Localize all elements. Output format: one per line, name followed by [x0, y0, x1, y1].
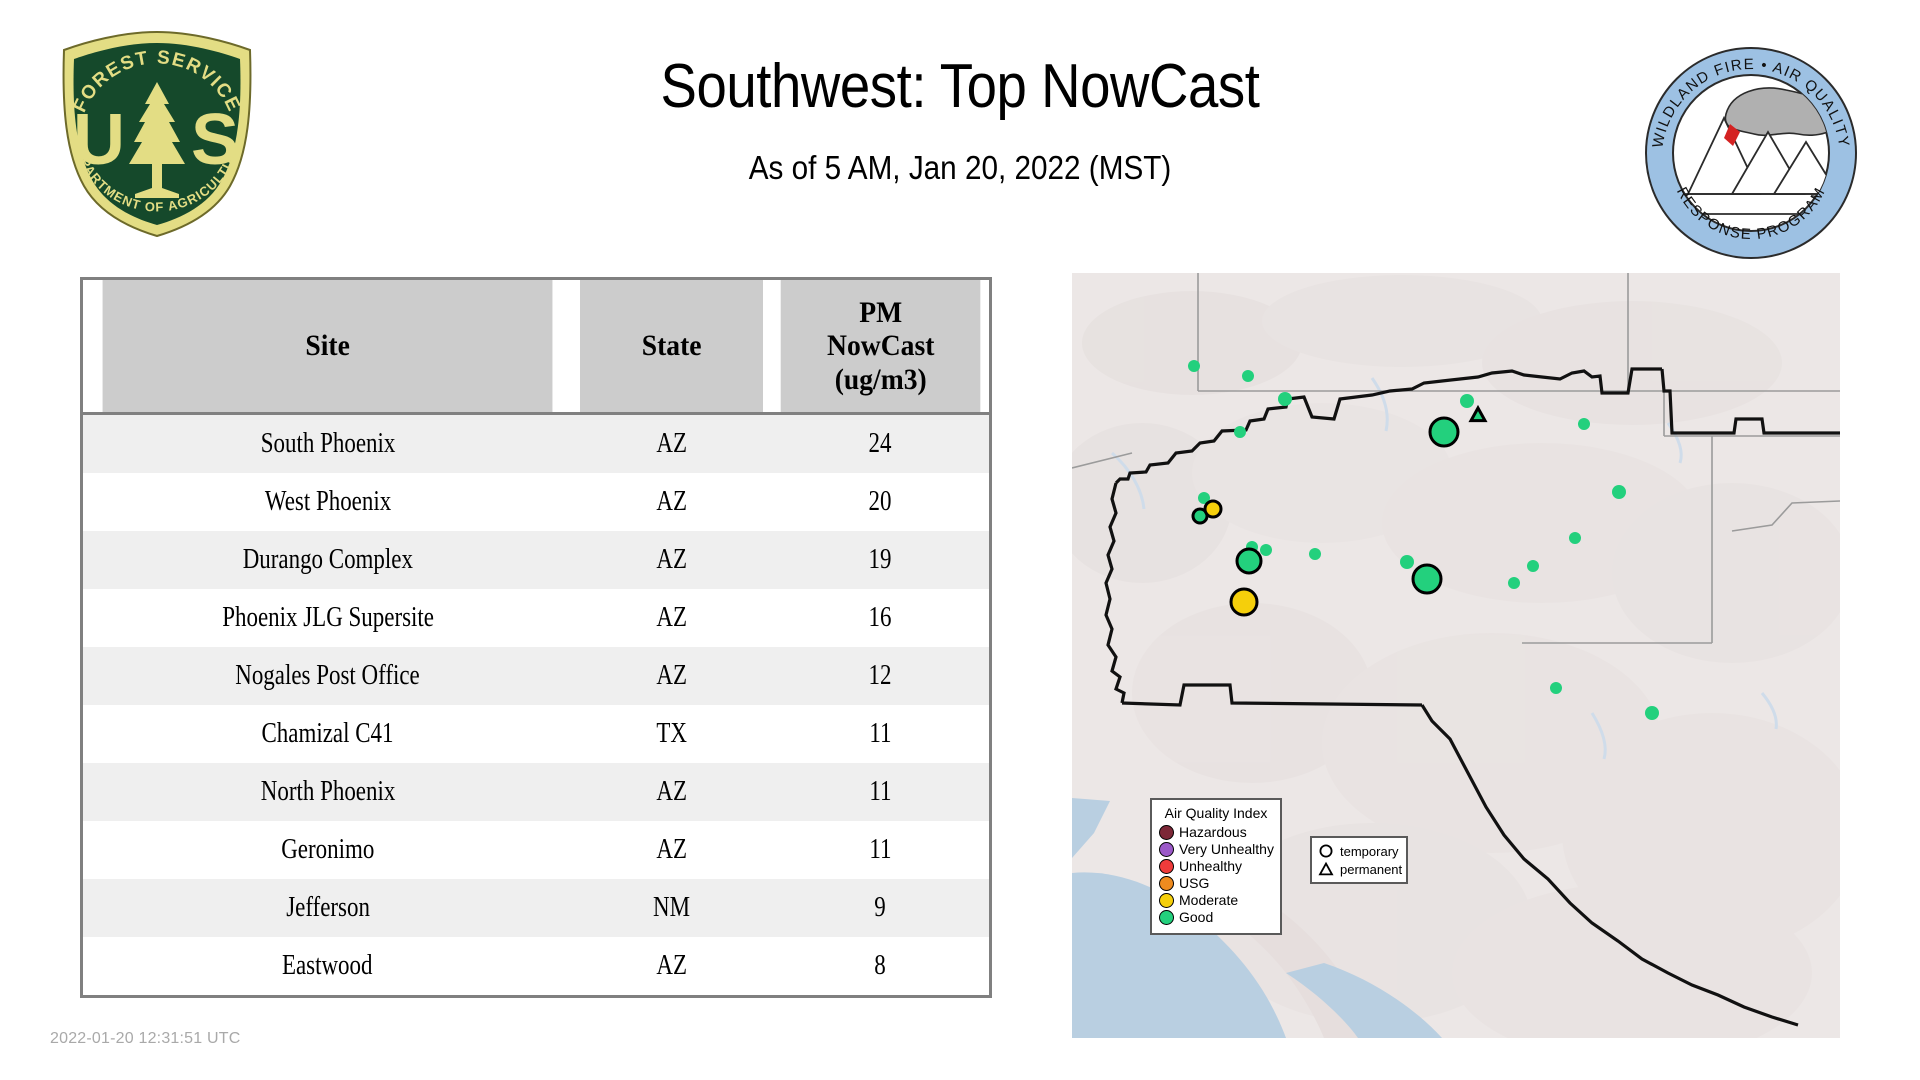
nowcast-table: Site State PM NowCast (ug/m3) South Phoe… [83, 280, 989, 995]
cell-state: AZ [572, 414, 771, 474]
cell-state-text: AZ [657, 544, 688, 576]
cell-value: 9 [772, 879, 989, 937]
map-marker-station[interactable] [1569, 532, 1581, 544]
map-marker-station[interactable] [1612, 485, 1626, 499]
map-marker-station[interactable] [1400, 555, 1414, 569]
cell-site-text: Nogales Post Office [235, 660, 420, 692]
column-header-state-label: State [642, 329, 702, 362]
cell-state: AZ [572, 473, 771, 531]
column-header-state[interactable]: State [580, 280, 763, 414]
aqi-legend-row: Hazardous [1159, 824, 1273, 841]
aqi-legend-row: Very Unhealthy [1159, 841, 1273, 858]
cell-site-text: Phoenix JLG Supersite [222, 602, 434, 634]
aqi-legend-items: HazardousVery UnhealthyUnhealthyUSGModer… [1159, 824, 1273, 926]
cell-site-text: South Phoenix [260, 428, 395, 460]
table-row[interactable]: Nogales Post OfficeAZ12 [83, 647, 989, 705]
map-marker-station[interactable] [1460, 394, 1474, 408]
table-header: Site State PM NowCast (ug/m3) [83, 280, 989, 414]
cell-site-text: Eastwood [282, 950, 373, 982]
cell-site: South Phoenix [83, 414, 572, 474]
table-header-row: Site State PM NowCast (ug/m3) [83, 280, 989, 414]
table-row[interactable]: South PhoenixAZ24 [83, 414, 989, 474]
cell-site: Geronimo [83, 821, 572, 879]
cell-value: 20 [772, 473, 989, 531]
map-marker-station[interactable] [1527, 560, 1539, 572]
cell-value-text: 19 [869, 544, 892, 576]
aqi-legend-row: USG [1159, 875, 1273, 892]
map-marker-station[interactable] [1231, 589, 1257, 615]
table-body: South PhoenixAZ24West PhoenixAZ20Durango… [83, 414, 989, 996]
aqi-legend-label: Good [1179, 909, 1213, 926]
cell-state-text: AZ [657, 428, 688, 460]
aqi-legend-label: Unhealthy [1179, 858, 1242, 875]
cell-state-text: TX [657, 718, 688, 750]
map-marker-station[interactable] [1430, 418, 1458, 446]
aqi-legend-label: Very Unhealthy [1179, 841, 1274, 858]
table-row[interactable]: Durango ComplexAZ19 [83, 531, 989, 589]
cell-value: 16 [772, 589, 989, 647]
aqi-legend-label: Moderate [1179, 892, 1238, 909]
table-row[interactable]: GeronimoAZ11 [83, 821, 989, 879]
station-type-legend: temporary permanent [1310, 836, 1408, 884]
cell-site: Chamizal C41 [83, 705, 572, 763]
map-marker-station[interactable] [1234, 426, 1246, 438]
cell-value-text: 16 [869, 602, 892, 634]
column-header-site-label: Site [305, 329, 349, 362]
table-row[interactable]: Phoenix JLG SupersiteAZ16 [83, 589, 989, 647]
map-marker-station[interactable] [1578, 418, 1590, 430]
legend-row-permanent: permanent [1318, 860, 1400, 878]
cell-site-text: Geronimo [281, 834, 374, 866]
cell-site: Phoenix JLG Supersite [83, 589, 572, 647]
map-marker-station[interactable] [1242, 370, 1254, 382]
cell-value-text: 11 [869, 776, 891, 808]
cell-state: AZ [572, 531, 771, 589]
cell-value: 24 [772, 414, 989, 474]
cell-state: AZ [572, 821, 771, 879]
column-header-pm-nowcast[interactable]: PM NowCast (ug/m3) [780, 280, 980, 414]
map-marker-station[interactable] [1550, 682, 1562, 694]
cell-state-text: AZ [657, 950, 688, 982]
map-marker-station[interactable] [1188, 360, 1200, 372]
map-marker-station[interactable] [1260, 544, 1272, 556]
aqi-swatch-icon [1159, 893, 1174, 908]
cell-site-text: Durango Complex [242, 544, 412, 576]
page-title: Southwest: Top NowCast [379, 52, 1541, 121]
cell-value-text: 12 [869, 660, 892, 692]
cell-state-text: AZ [657, 660, 688, 692]
cell-state: TX [572, 705, 771, 763]
aqi-legend: Air Quality Index HazardousVery Unhealth… [1150, 798, 1282, 935]
map-marker-station[interactable] [1237, 549, 1261, 573]
cell-site-text: Chamizal C41 [262, 718, 394, 750]
cell-value-text: 11 [869, 718, 891, 750]
map-marker-station[interactable] [1205, 501, 1221, 517]
column-header-site[interactable]: Site [103, 280, 553, 414]
cell-state: NM [572, 879, 771, 937]
permanent-triangle-icon [1318, 861, 1334, 877]
aqi-swatch-icon [1159, 825, 1174, 840]
pm-label-line3: (ug/m3) [784, 363, 977, 397]
air-quality-map[interactable]: Air Quality Index HazardousVery Unhealth… [1072, 273, 1840, 1038]
cell-site: Jefferson [83, 879, 572, 937]
aqi-legend-label: USG [1179, 875, 1209, 892]
title-block: Southwest: Top NowCast As of 5 AM, Jan 2… [300, 52, 1620, 187]
map-marker-station[interactable] [1508, 577, 1520, 589]
generated-timestamp: 2022-01-20 12:31:51 UTC [50, 1030, 241, 1048]
usfs-shield-logo: U S FOREST SERVICE DEPARTMENT OF AGRICUL… [52, 28, 262, 240]
table-row[interactable]: JeffersonNM9 [83, 879, 989, 937]
aqi-swatch-icon [1159, 842, 1174, 857]
cell-state: AZ [572, 763, 771, 821]
table-row[interactable]: West PhoenixAZ20 [83, 473, 989, 531]
cell-state: AZ [572, 647, 771, 705]
cell-state-text: AZ [657, 486, 688, 518]
aqi-legend-row: Good [1159, 909, 1273, 926]
cell-state-text: AZ [657, 602, 688, 634]
map-marker-station[interactable] [1413, 565, 1441, 593]
cell-value-text: 24 [869, 428, 892, 460]
aqi-legend-label: Hazardous [1179, 824, 1247, 841]
cell-site: Nogales Post Office [83, 647, 572, 705]
cell-state-text: AZ [657, 834, 688, 866]
cell-value-text: 8 [875, 950, 886, 982]
slide-root: U S FOREST SERVICE DEPARTMENT OF AGRICUL… [0, 0, 1920, 1080]
aqi-legend-title: Air Quality Index [1159, 805, 1273, 821]
nowcast-table-container: Site State PM NowCast (ug/m3) South Phoe… [80, 277, 992, 998]
table-row[interactable]: North PhoenixAZ11 [83, 763, 989, 821]
map-marker-station[interactable] [1278, 392, 1292, 406]
cell-site-text: Jefferson [286, 892, 370, 924]
page-subtitle: As of 5 AM, Jan 20, 2022 (MST) [366, 149, 1554, 187]
legend-row-temporary: temporary [1318, 842, 1400, 860]
pm-label-line1: PM [784, 296, 977, 330]
cell-site: Durango Complex [83, 531, 572, 589]
aqi-legend-row: Unhealthy [1159, 858, 1273, 875]
aqi-swatch-icon [1159, 859, 1174, 874]
cell-value-text: 9 [875, 892, 886, 924]
cell-site: Eastwood [83, 937, 572, 995]
cell-value-text: 11 [869, 834, 891, 866]
cell-value: 19 [772, 531, 989, 589]
cell-value: 8 [772, 937, 989, 995]
wfaq-response-program-logo: WILDLAND FIRE • AIR QUALITY RESPONSE PRO… [1640, 42, 1862, 264]
cell-value-text: 20 [869, 486, 892, 518]
cell-site: North Phoenix [83, 763, 572, 821]
pm-label-line2: NowCast [784, 329, 977, 363]
cell-value: 12 [772, 647, 989, 705]
cell-state: AZ [572, 937, 771, 995]
cell-value: 11 [772, 705, 989, 763]
aqi-swatch-icon [1159, 876, 1174, 891]
cell-site-text: West Phoenix [264, 486, 390, 518]
legend-label-temporary: temporary [1340, 844, 1399, 859]
map-marker-station[interactable] [1645, 706, 1659, 720]
cell-site: West Phoenix [83, 473, 572, 531]
legend-label-permanent: permanent [1340, 862, 1402, 877]
map-marker-station[interactable] [1309, 548, 1321, 560]
cell-state-text: NM [653, 892, 690, 924]
aqi-legend-row: Moderate [1159, 892, 1273, 909]
temporary-circle-icon [1318, 843, 1334, 859]
cell-state: AZ [572, 589, 771, 647]
cell-state-text: AZ [657, 776, 688, 808]
table-row[interactable]: Chamizal C41TX11 [83, 705, 989, 763]
cell-value: 11 [772, 821, 989, 879]
table-row[interactable]: EastwoodAZ8 [83, 937, 989, 995]
cell-value: 11 [772, 763, 989, 821]
aqi-swatch-icon [1159, 910, 1174, 925]
cell-site-text: North Phoenix [260, 776, 395, 808]
